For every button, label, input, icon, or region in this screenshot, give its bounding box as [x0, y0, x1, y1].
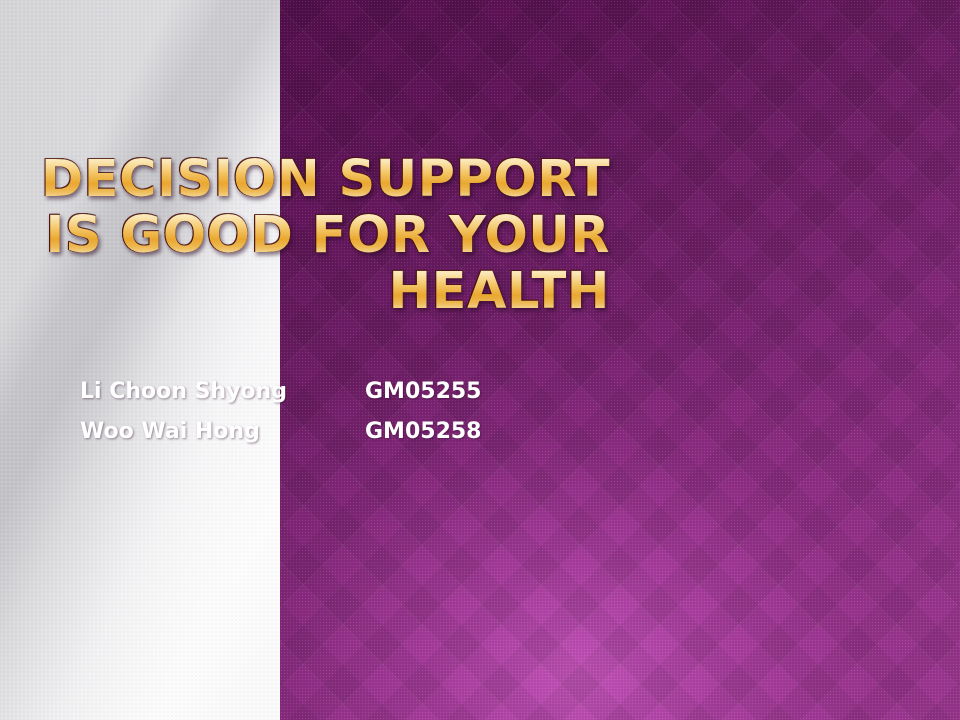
title-line-2: is good for your: [10, 208, 610, 264]
background-dither-texture: [280, 0, 960, 720]
author-name: Li Choon Shyong: [80, 374, 365, 410]
author-name: Woo Wai Hong: [80, 414, 365, 450]
side-panel-texture: [0, 0, 280, 720]
slide-content-panel: [280, 0, 960, 720]
author-id: GM05258: [365, 414, 482, 450]
slide-side-panel: [0, 0, 280, 720]
author-row: Woo Wai HongGM05258: [80, 414, 580, 454]
author-row: Li Choon ShyongGM05255: [80, 374, 580, 414]
diamond-lattice-pattern: [280, 0, 960, 720]
title-line-3: health: [10, 264, 610, 320]
title-line-1: Decision Support: [10, 152, 610, 208]
presentation-slide: Decision Support is good for your health…: [0, 0, 960, 720]
author-id: GM05255: [365, 374, 482, 410]
slide-subtitle: Li Choon ShyongGM05255 Woo Wai HongGM052…: [80, 374, 580, 454]
slide-title: Decision Support is good for your health: [10, 152, 610, 320]
